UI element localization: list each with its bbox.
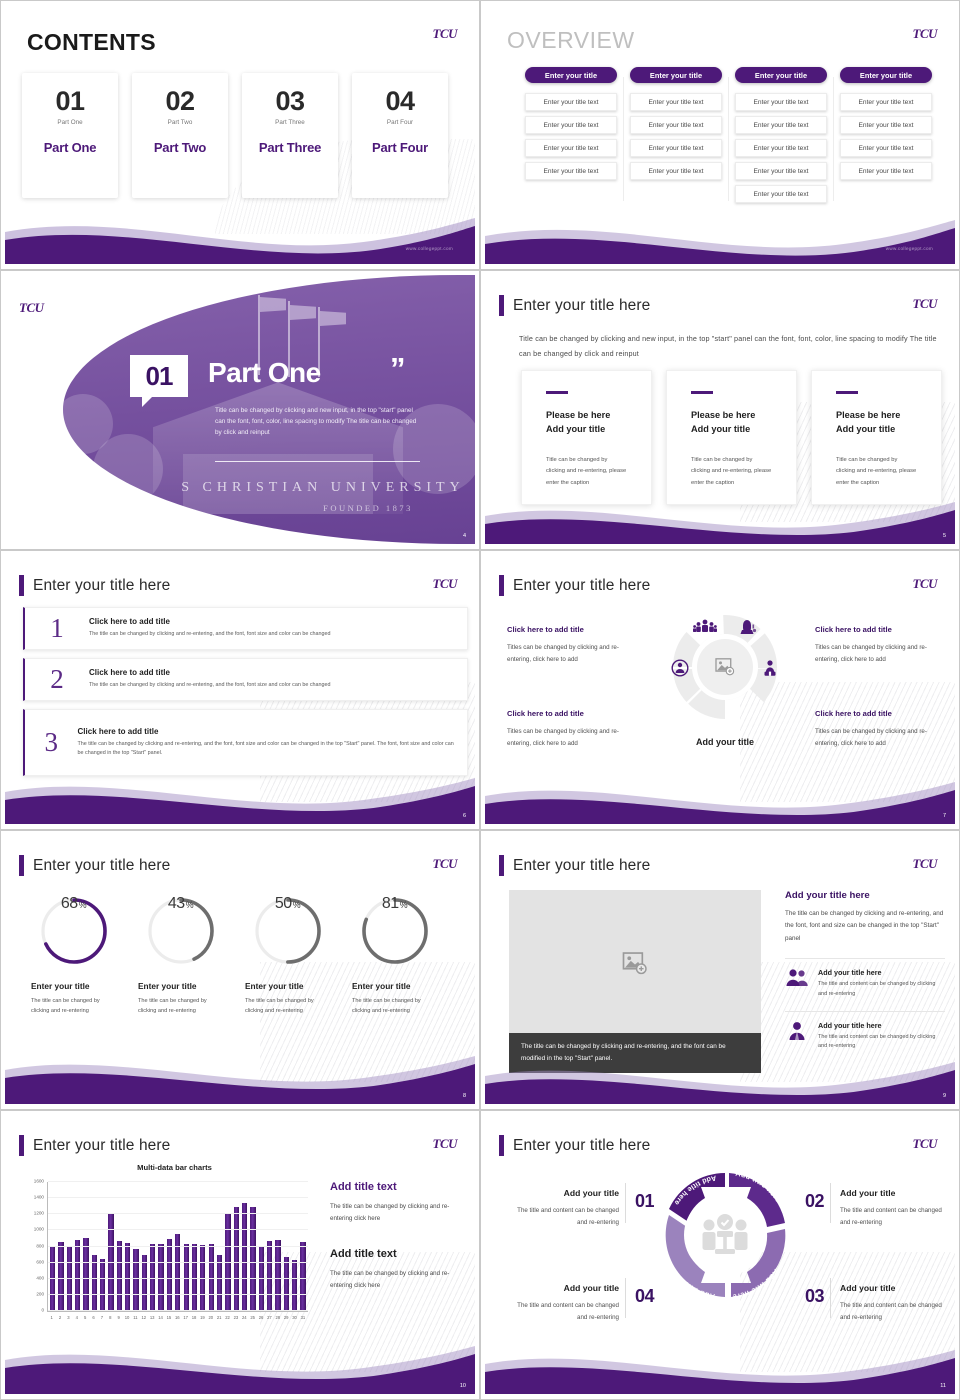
item-heading: Click here to add title — [89, 668, 331, 677]
page-title: Enter your title here — [19, 855, 170, 876]
chart-bar — [250, 1207, 255, 1311]
chart-y-tick: 1200 — [34, 1211, 48, 1216]
list-item[interactable]: 1 Click here to add title The title can … — [23, 607, 468, 650]
item-heading: Add your title here — [818, 1021, 945, 1030]
donut-caption: Add your title — [665, 737, 785, 747]
overview-column: Enter your title Enter your title text E… — [525, 67, 617, 203]
callout-body: Titles can be changed by clicking and re… — [815, 728, 927, 747]
image-placeholder-icon — [715, 658, 735, 676]
ring-stat: 68% Enter your title The title can be ch… — [31, 895, 116, 1017]
block-body: The title can be changed by clicking and… — [330, 1268, 470, 1293]
overview-column: Enter your title Enter your title text E… — [630, 67, 722, 203]
callout-right-top: Click here to add title Titles can be ch… — [815, 623, 945, 666]
card-list: Please be here Add your title Title can … — [521, 370, 942, 505]
page-title: CONTENTS — [27, 29, 156, 56]
slide-percent-rings[interactable]: Enter your title here TCU 68% Enter your… — [0, 830, 480, 1110]
page-number: 8 — [463, 1093, 466, 1099]
item-heading: Click here to add title — [89, 617, 331, 626]
overview-item[interactable]: Enter your title text — [735, 139, 827, 157]
tcu-logo: TCU — [913, 857, 938, 870]
card-subtitle: Part Three — [275, 119, 305, 126]
contents-card[interactable]: 01 Part One Part One — [22, 73, 118, 198]
page-title-text: Enter your title here — [513, 297, 650, 315]
card-title: Part One — [44, 140, 97, 155]
card-accent-dash — [546, 391, 568, 394]
chart-bar — [58, 1242, 63, 1311]
info-card[interactable]: Please be here Add your title Title can … — [811, 370, 942, 505]
footer-wave — [5, 1046, 475, 1104]
info-card[interactable]: Please be here Add your title Title can … — [521, 370, 652, 505]
ring-heading: Enter your title — [352, 981, 437, 991]
ring-body: The title can be changed by clicking and… — [245, 996, 330, 1017]
slide-thumbnail-grid: CONTENTS TCU 01 Part One Part One 02 Par… — [0, 0, 960, 1400]
page-title-text: Enter your title here — [33, 577, 170, 595]
tcu-logo: TCU — [433, 577, 458, 590]
overview-item[interactable]: Enter your title text — [840, 116, 932, 134]
slide-section-divider[interactable]: S CHRISTIAN UNIVERSITY FOUNDED 1873 TCU … — [0, 270, 480, 550]
item-body: The title and content can be changed by … — [818, 980, 945, 1000]
chart-x-tick: 2 — [57, 1315, 62, 1320]
ring-heading: Enter your title — [31, 981, 116, 991]
footer-wave — [5, 206, 475, 264]
list-item[interactable]: 2 Click here to add title The title can … — [23, 658, 468, 701]
overview-item[interactable]: Enter your title text — [735, 162, 827, 180]
section-rule — [215, 461, 420, 462]
tcu-logo: TCU — [913, 1137, 938, 1150]
chart-x-tick: 17 — [183, 1315, 188, 1320]
image-placeholder-icon — [622, 952, 648, 975]
group-people-icon — [693, 619, 717, 633]
page-title: Enter your title here — [19, 575, 170, 596]
chart-x-tick: 21 — [217, 1315, 222, 1320]
section-body: Title can be changed by clicking and new… — [215, 405, 423, 439]
overview-column: Enter your title Enter your title text E… — [840, 67, 932, 203]
callout-body: The title and content can be changed and… — [840, 1302, 942, 1321]
overview-item[interactable]: Enter your title text — [735, 116, 827, 134]
list-item[interactable]: 3 Click here to add title The title can … — [23, 709, 468, 776]
watermark: www.collegeppt.com — [886, 246, 933, 251]
overview-item[interactable]: Enter your title text — [630, 93, 722, 111]
card-body: Title can be changed by clicking and re-… — [836, 455, 917, 489]
callout-body: The title and content can be changed and… — [517, 1207, 619, 1226]
overview-item[interactable]: Enter your title text — [840, 162, 932, 180]
page-title-text: Enter your title here — [513, 857, 650, 875]
tcu-logo: TCU — [913, 27, 938, 40]
divider — [830, 1183, 831, 1223]
chart-bar — [275, 1240, 280, 1311]
page-number: 5 — [943, 533, 946, 539]
page-title: OVERVIEW — [507, 27, 635, 54]
page-title-text: Enter your title here — [513, 577, 650, 595]
chart-x-tick: 4 — [74, 1315, 79, 1320]
chart-x-tick: 6 — [91, 1315, 96, 1320]
item-body: The title can be changed by clicking and… — [78, 740, 457, 758]
chart-x-tick: 15 — [166, 1315, 171, 1320]
callout-left-top: Click here to add title Titles can be ch… — [507, 623, 637, 666]
cycle-number-03: 03 — [805, 1286, 824, 1307]
column-title-pill[interactable]: Enter your title — [735, 67, 827, 83]
chart-x-tick: 31 — [300, 1315, 305, 1320]
overview-item[interactable]: Enter your title text — [630, 139, 722, 157]
detail-panel: Add your title here The title can be cha… — [785, 890, 945, 1061]
two-people-icon — [785, 968, 809, 993]
chart-y-tick: 1400 — [34, 1195, 48, 1200]
chart-x-tick: 13 — [150, 1315, 155, 1320]
chart-bar — [142, 1255, 147, 1311]
overview-item[interactable]: Enter your title text — [840, 139, 932, 157]
chart-title: Multi-data bar charts — [37, 1163, 312, 1172]
single-person-icon — [785, 1021, 809, 1046]
card-accent-dash — [691, 391, 713, 394]
person-circle-icon — [671, 659, 689, 677]
item-number: 1 — [25, 615, 89, 642]
item-number: 3 — [25, 729, 78, 756]
card-body: Title can be changed by clicking and re-… — [691, 455, 772, 489]
callout-heading: Click here to add title — [815, 623, 945, 638]
slide-donut-callouts[interactable]: Enter your title here TCU Click here to … — [480, 550, 960, 830]
chart-bar — [83, 1238, 88, 1311]
item-heading: Add your title here — [818, 968, 945, 977]
card-subtitle: Part Four — [387, 119, 413, 126]
block-body: The title can be changed by clicking and… — [330, 1201, 470, 1226]
page-number: 4 — [463, 533, 466, 539]
card-number: 04 — [385, 88, 414, 115]
callout-body: The title and content can be changed and… — [517, 1302, 619, 1321]
chart-bar — [50, 1247, 55, 1311]
page-number: 7 — [943, 813, 946, 819]
divider — [625, 1278, 626, 1318]
chart-x-tick: 14 — [158, 1315, 163, 1320]
list-item[interactable]: Add your title here The title and conten… — [785, 1021, 945, 1062]
numbered-row-list: 1 Click here to add title The title can … — [23, 607, 468, 784]
page-number: 11 — [940, 1383, 946, 1389]
chart-x-axis-labels: 1234567891011121314151617181920212223242… — [47, 1312, 308, 1320]
chart-x-tick: 29 — [284, 1315, 289, 1320]
chart-x-tick: 16 — [175, 1315, 180, 1320]
slide-numbered-list[interactable]: Enter your title here TCU 1 Click here t… — [0, 550, 480, 830]
title-accent-bar — [19, 855, 24, 876]
ring-stat-list: 68% Enter your title The title can be ch… — [31, 895, 437, 1017]
callout-heading: Click here to add title — [507, 707, 637, 722]
section-title: Part One — [208, 357, 321, 389]
section-backdrop: S CHRISTIAN UNIVERSITY FOUNDED 1873 TCU … — [5, 275, 475, 544]
tcu-logo: TCU — [433, 27, 458, 40]
chart-x-tick: 12 — [141, 1315, 146, 1320]
column-title-pill[interactable]: Enter your title — [525, 67, 617, 83]
chart-x-tick: 7 — [99, 1315, 104, 1320]
chart-y-tick: 400 — [36, 1275, 48, 1280]
page-number: 6 — [463, 813, 466, 819]
chart-y-tick: 600 — [36, 1259, 48, 1264]
chart-x-tick: 3 — [66, 1315, 71, 1320]
page-title: Enter your title here — [499, 855, 650, 876]
slide-three-cards[interactable]: Enter your title here TCU Title can be c… — [480, 270, 960, 550]
overview-item[interactable]: Enter your title text — [735, 185, 827, 203]
callout-heading: Add your title — [509, 1280, 619, 1296]
chart-bar — [300, 1242, 305, 1311]
tcu-logo: TCU — [433, 857, 458, 870]
footer-wave — [485, 766, 955, 824]
cycle-callout-04: Add your title The title and content can… — [509, 1280, 619, 1324]
chart-bar — [292, 1260, 297, 1311]
chart-y-tick: 200 — [36, 1291, 48, 1296]
ring-body: The title can be changed by clicking and… — [138, 996, 223, 1017]
page-title-text: Enter your title here — [33, 857, 170, 875]
overview-item[interactable]: Enter your title text — [525, 139, 617, 157]
card-subtitle: Part One — [57, 119, 82, 126]
card-number: 01 — [55, 88, 84, 115]
flag — [320, 311, 346, 326]
chart-bar — [117, 1241, 122, 1311]
tcu-logo: TCU — [433, 1137, 458, 1150]
university-wordmark: S CHRISTIAN UNIVERSITY — [133, 480, 475, 496]
chart-x-tick: 26 — [258, 1315, 263, 1320]
chart-x-tick: 30 — [292, 1315, 297, 1320]
ring-heading: Enter your title — [245, 981, 330, 991]
chart-bar — [167, 1239, 172, 1311]
tcu-logo: TCU — [19, 301, 44, 314]
chart-plot-area: 02004006008001000120014001600 — [47, 1182, 308, 1312]
title-accent-bar — [499, 1135, 504, 1156]
ring-value: 68% — [38, 895, 110, 967]
quote-glyph-icon: ” — [390, 357, 406, 382]
chart-x-tick: 11 — [133, 1315, 138, 1320]
list-item[interactable]: Add your title here The title and conten… — [785, 968, 945, 1009]
person-team-icon — [761, 659, 779, 677]
slide-bar-chart[interactable]: Enter your title here TCU Multi-data bar… — [0, 1110, 480, 1400]
ring-stat: 81% Enter your title The title can be ch… — [352, 895, 437, 1017]
lead-paragraph: Title can be changed by clicking and new… — [519, 331, 937, 361]
page-number: 9 — [943, 1093, 946, 1099]
cycle-number-02: 02 — [805, 1191, 824, 1212]
flag — [260, 297, 286, 312]
divider — [830, 1278, 831, 1318]
slide-cycle-diagram[interactable]: Enter your title here TCU Add your title… — [480, 1110, 960, 1400]
bar-chart: Multi-data bar charts 020040060080010001… — [17, 1163, 312, 1348]
segmented-donut — [665, 607, 785, 727]
chart-bar — [259, 1247, 264, 1311]
card-body: Title can be changed by clicking and re-… — [546, 455, 627, 489]
chart-x-tick: 8 — [108, 1315, 113, 1320]
chart-x-tick: 23 — [233, 1315, 238, 1320]
chart-x-tick: 24 — [242, 1315, 247, 1320]
card-title: Part Two — [154, 140, 206, 155]
page-title: Enter your title here — [19, 1135, 170, 1156]
tcu-logo: TCU — [913, 577, 938, 590]
item-body: The title and content can be changed by … — [818, 1033, 945, 1053]
card-heading: Please be here Add your title — [546, 408, 627, 437]
ring-value: 50% — [252, 895, 324, 967]
ring-stat: 50% Enter your title The title can be ch… — [245, 895, 330, 1017]
donut-hub[interactable] — [692, 634, 758, 700]
chart-gridline: 1200 — [48, 1213, 308, 1214]
contents-card[interactable]: 03 Part Three Part Three — [242, 73, 338, 198]
slide-overview[interactable]: OVERVIEW TCU Enter your title Enter your… — [480, 0, 960, 270]
chart-bar — [75, 1240, 80, 1311]
title-accent-bar — [499, 295, 504, 316]
overview-item[interactable]: Enter your title text — [630, 162, 722, 180]
cycle-callout-01: Add your title The title and content can… — [509, 1185, 619, 1229]
page-title-text: Enter your title here — [33, 1137, 170, 1155]
divider — [625, 1183, 626, 1223]
chart-gridline: 600 — [48, 1262, 308, 1263]
watermark: www.collegeppt.com — [406, 246, 453, 251]
column-title-pill[interactable]: Enter your title — [630, 67, 722, 83]
cycle-number-04: 04 — [635, 1286, 654, 1307]
progress-ring: 68% — [38, 895, 110, 967]
callout-body: Titles can be changed by clicking and re… — [507, 644, 619, 663]
page-title: Enter your title here — [499, 1135, 650, 1156]
chart-x-tick: 9 — [116, 1315, 121, 1320]
card-heading: Please be here Add your title — [691, 408, 772, 437]
card-number: 03 — [275, 88, 304, 115]
progress-ring: 43% — [145, 895, 217, 967]
image-placeholder[interactable] — [509, 890, 761, 1036]
ring-value: 43% — [145, 895, 217, 967]
overview-item[interactable]: Enter your title text — [840, 93, 932, 111]
chart-bar — [100, 1259, 105, 1311]
title-accent-bar — [499, 855, 504, 876]
item-heading: Click here to add title — [78, 727, 457, 736]
chart-gridline: 0 — [48, 1310, 308, 1311]
page-title: Enter your title here — [499, 575, 650, 596]
title-accent-bar — [19, 1135, 24, 1156]
page-title: Enter your title here — [499, 295, 650, 316]
flag — [290, 305, 316, 320]
chart-y-tick: 1600 — [34, 1179, 48, 1184]
chart-bar — [133, 1249, 138, 1311]
overview-item[interactable]: Enter your title text — [525, 162, 617, 180]
image-caption: The title can be changed by clicking and… — [509, 1033, 761, 1073]
chart-x-tick: 18 — [191, 1315, 196, 1320]
contents-card[interactable]: 04 Part Four Part Four — [352, 73, 448, 198]
chart-x-tick: 27 — [267, 1315, 272, 1320]
callout-right-bottom: Click here to add title Titles can be ch… — [815, 707, 945, 750]
text-panel: Add title text The title can be changed … — [330, 1181, 470, 1315]
footer-wave — [485, 206, 955, 264]
chart-y-tick: 1000 — [34, 1227, 48, 1232]
item-body: The title can be changed by clicking and… — [89, 630, 331, 639]
chart-x-tick: 20 — [208, 1315, 213, 1320]
divider — [785, 1011, 945, 1012]
text-block: Add title text The title can be changed … — [330, 1248, 470, 1293]
callout-heading: Add your title — [509, 1185, 619, 1201]
overview-item[interactable]: Enter your title text — [525, 116, 617, 134]
section-number: 01 — [130, 355, 188, 397]
chart-gridline: 1600 — [48, 1181, 308, 1182]
ring-body: The title can be changed by clicking and… — [352, 996, 437, 1017]
item-number: 2 — [25, 666, 89, 693]
callout-body: Titles can be changed by clicking and re… — [507, 728, 619, 747]
page-number: 10 — [460, 1383, 466, 1389]
chart-gridline: 400 — [48, 1278, 308, 1279]
chart-y-tick: 800 — [36, 1243, 48, 1248]
person-headset-icon — [739, 619, 757, 634]
panel-body: The title can be changed by clicking and… — [785, 908, 945, 945]
callout-heading: Click here to add title — [507, 623, 637, 638]
founded-wordmark: FOUNDED 1873 — [223, 503, 475, 513]
overview-item[interactable]: Enter your title text — [735, 93, 827, 111]
callout-heading: Click here to add title — [815, 707, 945, 722]
cycle-callout-02: Add your title The title and content can… — [840, 1185, 950, 1229]
card-title: Part Three — [259, 140, 321, 155]
panel-heading: Add your title here — [785, 890, 945, 901]
chart-gridline: 200 — [48, 1294, 308, 1295]
chart-x-tick: 5 — [83, 1315, 88, 1320]
overview-column: Enter your title Enter your title text E… — [735, 67, 827, 203]
progress-ring: 81% — [359, 895, 431, 967]
footer-wave — [485, 1336, 955, 1394]
overview-columns: Enter your title Enter your title text E… — [525, 67, 932, 203]
chart-x-tick: 25 — [250, 1315, 255, 1320]
callout-body: Titles can be changed by clicking and re… — [815, 644, 927, 663]
slide-contents[interactable]: CONTENTS TCU 01 Part One Part One 02 Par… — [0, 0, 480, 270]
divider — [785, 958, 945, 959]
slide-image-and-list[interactable]: Enter your title here TCU The title can … — [480, 830, 960, 1110]
text-block: Add title text The title can be changed … — [330, 1181, 470, 1226]
chart-x-tick: 22 — [225, 1315, 230, 1320]
ring-stat: 43% Enter your title The title can be ch… — [138, 895, 223, 1017]
chart-gridline: 1400 — [48, 1197, 308, 1198]
chart-bar — [67, 1247, 72, 1311]
callout-body: The title and content can be changed and… — [840, 1207, 942, 1226]
title-accent-bar — [499, 575, 504, 596]
cycle-ring: Add title here Add title here Add title … — [655, 1165, 795, 1305]
chart-x-tick: 1 — [49, 1315, 54, 1320]
ring-value: 81% — [359, 895, 431, 967]
column-title-pill[interactable]: Enter your title — [840, 67, 932, 83]
cycle-number-01: 01 — [635, 1191, 654, 1212]
card-title: Part Four — [372, 140, 428, 155]
chart-bar — [217, 1255, 222, 1311]
chart-bar — [267, 1241, 272, 1311]
progress-ring: 50% — [252, 895, 324, 967]
chart-x-tick: 28 — [275, 1315, 280, 1320]
card-number: 02 — [165, 88, 194, 115]
chart-bars — [48, 1182, 308, 1311]
block-heading: Add title text — [330, 1248, 470, 1260]
chart-gridline: 800 — [48, 1246, 308, 1247]
page-title-text: Enter your title here — [513, 1137, 650, 1155]
card-accent-dash — [836, 391, 858, 394]
info-card[interactable]: Please be here Add your title Title can … — [666, 370, 797, 505]
chart-bar — [92, 1255, 97, 1311]
block-heading: Add title text — [330, 1181, 470, 1193]
ring-heading: Enter your title — [138, 981, 223, 991]
callout-left-bottom: Click here to add title Titles can be ch… — [507, 707, 637, 750]
callout-heading: Add your title — [840, 1185, 950, 1201]
contents-card[interactable]: 02 Part Two Part Two — [132, 73, 228, 198]
team-check-icon — [701, 1213, 749, 1262]
chart-gridline: 1000 — [48, 1229, 308, 1230]
chart-x-tick: 10 — [124, 1315, 129, 1320]
overview-item[interactable]: Enter your title text — [525, 93, 617, 111]
item-body: The title can be changed by clicking and… — [89, 681, 331, 690]
chart-x-tick: 19 — [200, 1315, 205, 1320]
ring-body: The title can be changed by clicking and… — [31, 996, 116, 1017]
title-accent-bar — [19, 575, 24, 596]
chart-y-tick: 0 — [41, 1308, 48, 1313]
tcu-logo: TCU — [913, 297, 938, 310]
chart-bar — [284, 1257, 289, 1311]
contents-card-list: 01 Part One Part One 02 Part Two Part Tw… — [22, 73, 448, 198]
chart-bar — [234, 1207, 239, 1311]
cycle-callout-03: Add your title The title and content can… — [840, 1280, 950, 1324]
overview-item[interactable]: Enter your title text — [630, 116, 722, 134]
card-heading: Please be here Add your title — [836, 408, 917, 437]
callout-heading: Add your title — [840, 1280, 950, 1296]
card-subtitle: Part Two — [168, 119, 193, 126]
